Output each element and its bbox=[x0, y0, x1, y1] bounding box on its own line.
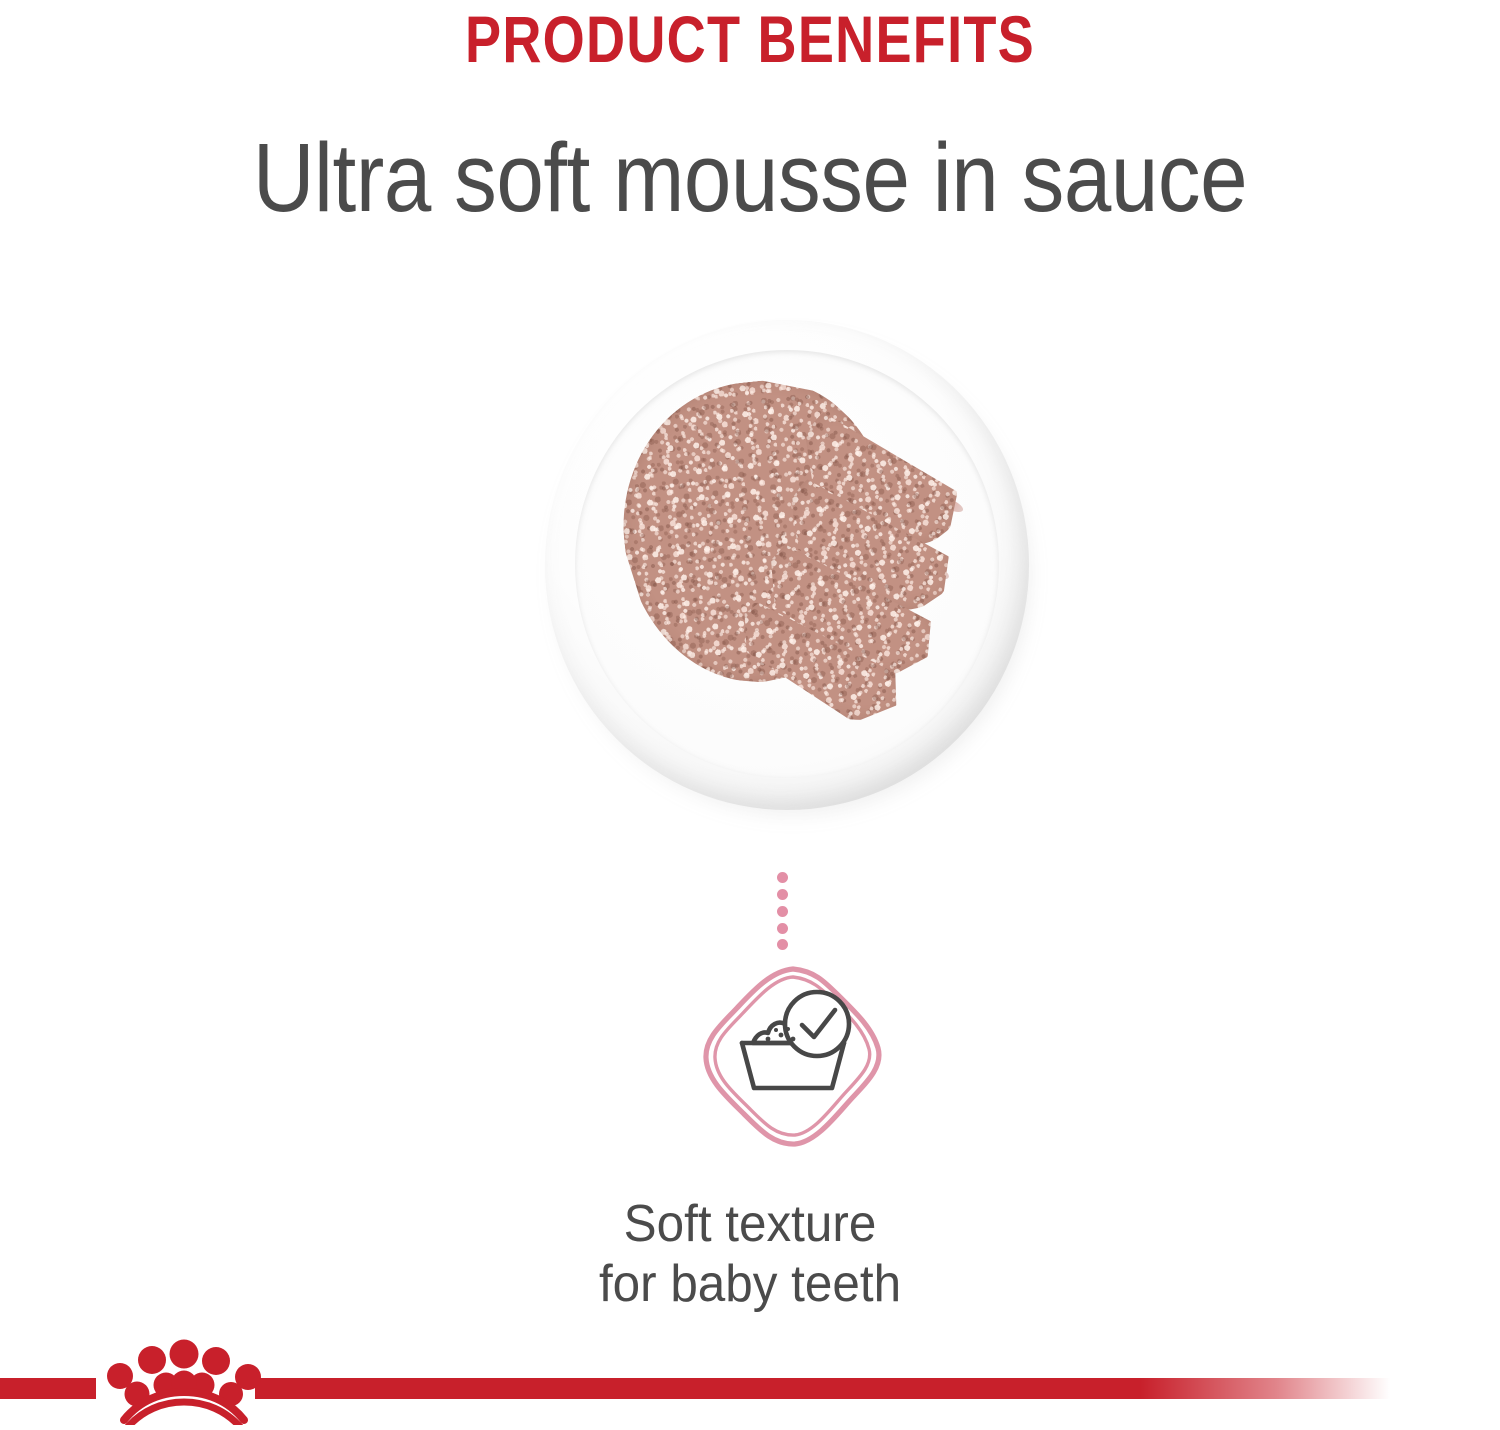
hand-drawn-diamond-frame bbox=[706, 969, 879, 1144]
connector-dot bbox=[777, 906, 788, 917]
connector-dot bbox=[777, 939, 788, 950]
brand-footer bbox=[0, 1326, 1500, 1425]
connector-dot bbox=[777, 889, 788, 900]
brand-rule-right bbox=[255, 1378, 1390, 1399]
connector-dot bbox=[777, 872, 788, 883]
bowl-with-kibble-and-check bbox=[742, 992, 849, 1088]
page-title: Ultra soft mousse in sauce bbox=[90, 74, 1410, 230]
benefit-icon-svg bbox=[698, 962, 888, 1152]
product-photo bbox=[540, 316, 1040, 820]
brand-rule-left bbox=[0, 1378, 96, 1399]
soft-texture-bowl-check-icon bbox=[698, 962, 888, 1152]
benefit-caption-line-2: for baby teeth bbox=[38, 1254, 1463, 1314]
benefit-caption: Soft texture for baby teeth bbox=[0, 1194, 1500, 1314]
page-eyebrow-title: PRODUCT BENEFITS bbox=[135, 0, 1365, 74]
dotted-connector bbox=[777, 872, 789, 950]
royal-canin-crown-logo bbox=[104, 1332, 264, 1425]
header-block: PRODUCT BENEFITS Ultra soft mousse in sa… bbox=[0, 0, 1500, 230]
benefit-caption-line-1: Soft texture bbox=[38, 1194, 1463, 1254]
connector-dot bbox=[777, 923, 788, 934]
crown-logo-svg bbox=[104, 1332, 264, 1425]
mousse-loaf-icon bbox=[540, 316, 1040, 820]
